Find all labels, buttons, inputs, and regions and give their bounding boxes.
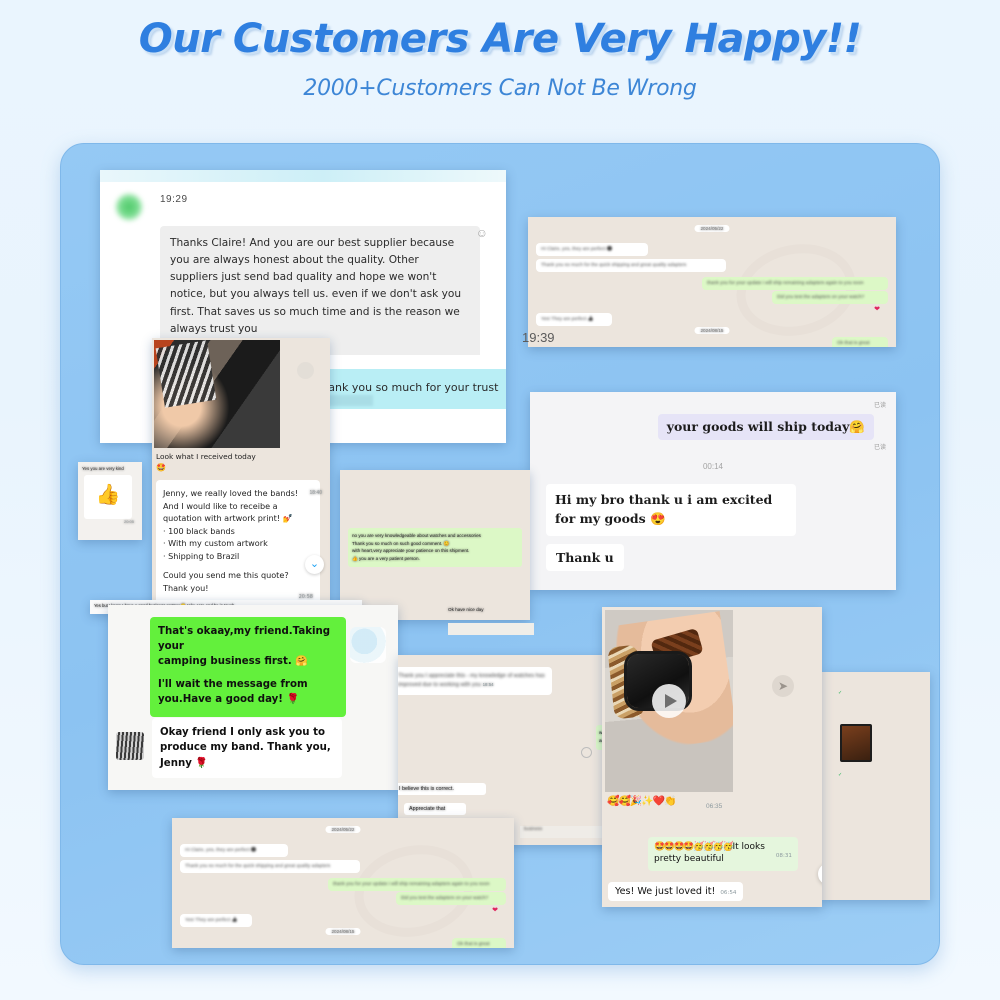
message-line: no you are very knowledgeable about watc… [352, 532, 518, 540]
testimonial-card-knowledgeable[interactable]: no you are very knowledgeable about watc… [340, 470, 530, 620]
chat-bubble-incoming: Hi Claire, yes, they are perfect 😊 [180, 844, 288, 857]
chat-thread: 2024/05/22 Hi Claire, yes, they are perf… [528, 217, 896, 347]
chat-bubble-outgoing-green: That's okaay,my friend.Taking your campi… [150, 617, 346, 717]
chat-thread: 2024/05/22 Hi Claire, yes, they are perf… [172, 818, 514, 948]
avatar [116, 732, 144, 760]
page-header: Our Customers Are Very Happy!! 2000+Cust… [0, 0, 1000, 101]
chat-bubble-outgoing: Did you test the adapters on your watch? [396, 892, 506, 905]
trust-text: thank you so much for your trust [317, 381, 498, 394]
photo-timestamp: 18:40 [309, 490, 322, 496]
chat-bubble-incoming: I believe this is correct. [398, 783, 486, 795]
white-line: produce my band. Thank you, [160, 740, 334, 755]
message-timestamp: 20:05 [78, 519, 142, 524]
testimonial-card-thumbs-up[interactable]: Yes you are very kind 👍 20:05 [78, 462, 142, 540]
testimonial-card-adapters-bottom[interactable]: 2024/05/22 Hi Claire, yes, they are perf… [172, 818, 514, 948]
chat-bubble-incoming: Thank you I appreciate this - my knowled… [398, 667, 552, 695]
request-line: Could you send me this quote? [163, 569, 313, 582]
chat-bubble-outgoing: thank you for your update i will ship re… [328, 878, 506, 891]
chat-bubble-incoming: Thank you so much for the quick shipping… [180, 860, 360, 873]
chat-bubble-incoming: Thank u [546, 544, 624, 571]
spacer [163, 562, 313, 569]
message-timestamp: 19:29 [144, 192, 188, 222]
green-line: you.Have a good day! 🌹 [158, 693, 338, 708]
heart-icon: ❤ [874, 305, 880, 313]
play-button-icon[interactable] [652, 684, 686, 718]
forward-icon[interactable]: ➤ [772, 675, 794, 697]
testimonial-card-goods-ship[interactable]: 已读 your goods will ship today🤗 已读 00:14 … [530, 392, 896, 590]
chat-bubble-outgoing: thank you for your update i will ship re… [702, 277, 888, 290]
page-title: Our Customers Are Very Happy!! [0, 16, 1000, 62]
message-timestamp: 06:54 [720, 890, 736, 896]
green-line: I'll wait the message from [158, 678, 338, 693]
check-icon: ✓ [838, 690, 842, 696]
read-receipt: 已读 [874, 400, 886, 409]
chat-bubble-trust: thank you so much for your trust [305, 369, 506, 409]
message-line: Thank you so much on such good comment. … [352, 540, 518, 548]
testimonial-card-sliver[interactable]: ✓ ✓ [820, 672, 930, 900]
read-receipt: 已读 [874, 442, 886, 451]
chat-bubble-group-outgoing: no you are very knowledgeable about watc… [348, 528, 522, 567]
request-line: quotation with artwork print! 💅 [163, 512, 313, 525]
chat-bubble-incoming-white: Okay friend I only ask you to produce my… [152, 718, 342, 778]
chat-bubble-incoming: Thank you so much for the quick shipping… [536, 259, 726, 272]
testimonial-card-camping[interactable]: That's okaay,my friend.Taking your campi… [108, 605, 398, 790]
chat-bubble-outgoing: Ok that is great [832, 337, 888, 347]
chat-bubble-outgoing: Did you test the adapters on your watch? [772, 291, 888, 304]
forward-icon[interactable] [297, 362, 314, 379]
date-chip: 2024/05/22 [695, 225, 730, 232]
message-line: 👍 you are a very patient person. [352, 555, 518, 563]
crown-emojis: 🤩🤩🤩🤩🥳🥳🥳🥳 [654, 842, 732, 852]
video-timestamp: 06:35 [706, 803, 722, 810]
chat-bubble-incoming: Yes! They are perfect 👍 [536, 313, 612, 326]
request-line: Jenny, we really loved the bands! [163, 487, 313, 500]
chat-bubble-outgoing: your goods will ship today🤗 [658, 414, 874, 440]
chat-bubble-incoming-white: Yes! We just loved it!06:54 [608, 882, 743, 901]
message-line: with heart,very appreciate your patience… [352, 547, 518, 555]
media-placeholder-icon [581, 747, 592, 758]
date-chip: 2024/08/15 [326, 928, 361, 935]
goods-text: your goods will ship today [667, 419, 850, 434]
photo-caption: Look what I received today [152, 448, 330, 461]
request-line: · With my custom artwork [163, 537, 313, 550]
message-text: Thank you I appreciate this - my knowled… [398, 673, 545, 688]
green-line: camping business first. 🤗 [158, 655, 338, 670]
received-bands-photo[interactable] [154, 340, 280, 448]
request-line: · 100 black bands [163, 525, 313, 538]
request-line: Thank you! [163, 582, 313, 595]
testimonial-card-bands-request[interactable]: Look what I received today 🤩 18:40 Jenny… [152, 338, 330, 610]
request-line: And I would like to receibe a [163, 500, 313, 513]
check-icon: ✓ [838, 772, 842, 778]
spacer [158, 669, 338, 678]
testimonial-card-video[interactable]: ➤ 🥰🥰🎉✨❤️👏 06:35 🤩🤩🤩🤩🥳🥳🥳🥳It looks pretty … [602, 607, 822, 907]
adapters-card-timestamp: 19:39 [522, 330, 555, 345]
chat-bubble-outgoing-green: 🤩🤩🤩🤩🥳🥳🥳🥳It looks pretty beautiful 08:31 [648, 837, 798, 871]
thumbs-up-icon: 👍 [84, 475, 132, 519]
chat-strip-business: business [520, 826, 604, 838]
date-chip: 2024/05/22 [326, 826, 361, 833]
heart-icon: ❤ [492, 906, 498, 914]
time-divider: 00:14 [530, 462, 896, 471]
hug-emoji: 🤗 [849, 419, 865, 434]
scroll-down-icon[interactable]: ⌄ [305, 555, 324, 574]
green-line: That's okaay,my friend.Taking your [158, 625, 338, 655]
chat-bubble-quote-request: Jenny, we really loved the bands! And I … [156, 480, 320, 608]
date-chip: 2024/08/15 [695, 327, 730, 334]
smiley-reaction-icon[interactable]: ☺ [476, 226, 488, 240]
message-timestamp: 08:31 [776, 853, 792, 861]
white-line: Jenny 🌹 [160, 756, 334, 771]
page-subtitle: 2000+Customers Can Not Be Wrong [0, 76, 1000, 101]
avatar [114, 192, 144, 222]
message-text: Thanks Claire! And you are our best supp… [170, 237, 461, 335]
chat-bubble-outgoing: Ok that is great [452, 938, 506, 948]
message-text: Yes you are very kind [78, 462, 142, 471]
testimonial-card-appreciate[interactable]: Thank you I appreciate this - my knowled… [398, 655, 628, 845]
chat-bubble-incoming: Hi my bro thank u i am excited for my go… [546, 484, 796, 536]
scroll-down-icon[interactable]: ⌄ [818, 863, 822, 885]
message-line: Ok have nice day [448, 607, 484, 612]
star-eyes-emoji: 🤩 [152, 461, 330, 472]
testimonial-card-adapters-top[interactable]: 2024/05/22 Hi Claire, yes, they are perf… [528, 217, 896, 347]
white-line: Okay friend I only ask you to [160, 725, 334, 740]
message-timestamp: 18:54 [483, 682, 494, 687]
white-text: Yes! We just loved it! [615, 886, 715, 897]
chat-bubble-incoming: Yes! They are perfect 👍 [180, 914, 252, 927]
message-text: business [520, 826, 604, 831]
sticker-icon [350, 627, 386, 663]
heart-eyes-emoji: 😍 [650, 511, 666, 526]
chat-strip-decor [448, 623, 534, 635]
video-thumbnail[interactable] [605, 610, 733, 792]
chat-bubble-incoming: Hi Claire, yes, they are perfect 😊 [536, 243, 648, 256]
card-top-strip [100, 170, 506, 182]
image-thumbnail[interactable] [840, 724, 872, 762]
chat-bubble-incoming: Appreciate that [404, 803, 466, 815]
request-line: · Shipping to Brazil [163, 550, 313, 563]
chat-header-row: 19:29 [100, 182, 506, 222]
